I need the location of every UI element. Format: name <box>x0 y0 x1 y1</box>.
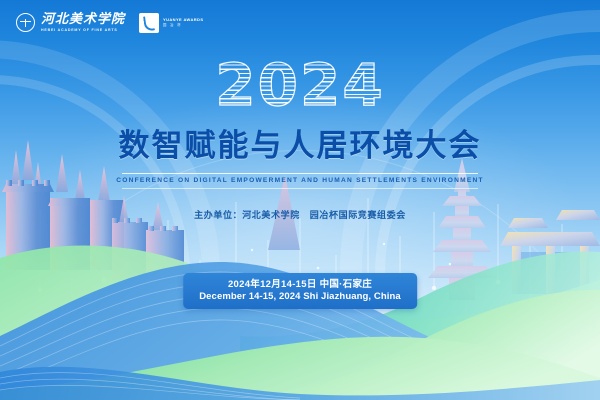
organizer-label: 主办单位： <box>194 210 242 220</box>
organizer-name-1: 河北美术学院 <box>242 210 300 220</box>
title-divider-bottom <box>122 188 478 189</box>
year-block: 2024 <box>0 56 600 114</box>
yuanye-name-en: YUANYE AWARDS <box>163 18 203 23</box>
academy-logo[interactable]: 河北美术学院 HEBEI ACADEMY OF FINE ARTS <box>16 12 125 33</box>
yuanye-awards-logo[interactable]: YUANYE AWARDS 园 冶 杯 <box>139 13 203 33</box>
logo-bar: 河北美术学院 HEBEI ACADEMY OF FINE ARTS YUANYE… <box>16 12 203 33</box>
year-2024: 2024 <box>215 56 384 114</box>
page-title: 数智赋能与人居环境大会 <box>0 128 600 164</box>
yuanye-name-cn: 园 冶 杯 <box>163 23 203 27</box>
subtitle-en: CONFERENCE ON DIGITAL EMPOWERMENT AND HU… <box>0 177 600 184</box>
date-badge[interactable]: 2024年12月14-15日 中国·石家庄 December 14-15, 20… <box>183 273 417 309</box>
organizer-name-2: 园冶杯国际竞赛组委会 <box>310 210 406 220</box>
title-divider-top <box>122 173 478 174</box>
conference-poster: 河北美术学院 HEBEI ACADEMY OF FINE ARTS YUANYE… <box>0 0 600 400</box>
date-en: December 14-15, 2024 Shi Jiazhuang, Chin… <box>199 291 401 303</box>
yuanye-mark-icon <box>139 13 159 33</box>
academy-seal-icon <box>16 13 35 32</box>
organizer-line: 主办单位：河北美术学院园冶杯国际竞赛组委会 <box>0 208 600 221</box>
academy-name-cn: 河北美术学院 <box>41 12 125 26</box>
date-cn: 2024年12月14-15日 中国·石家庄 <box>199 278 401 291</box>
academy-name-en: HEBEI ACADEMY OF FINE ARTS <box>41 27 125 33</box>
